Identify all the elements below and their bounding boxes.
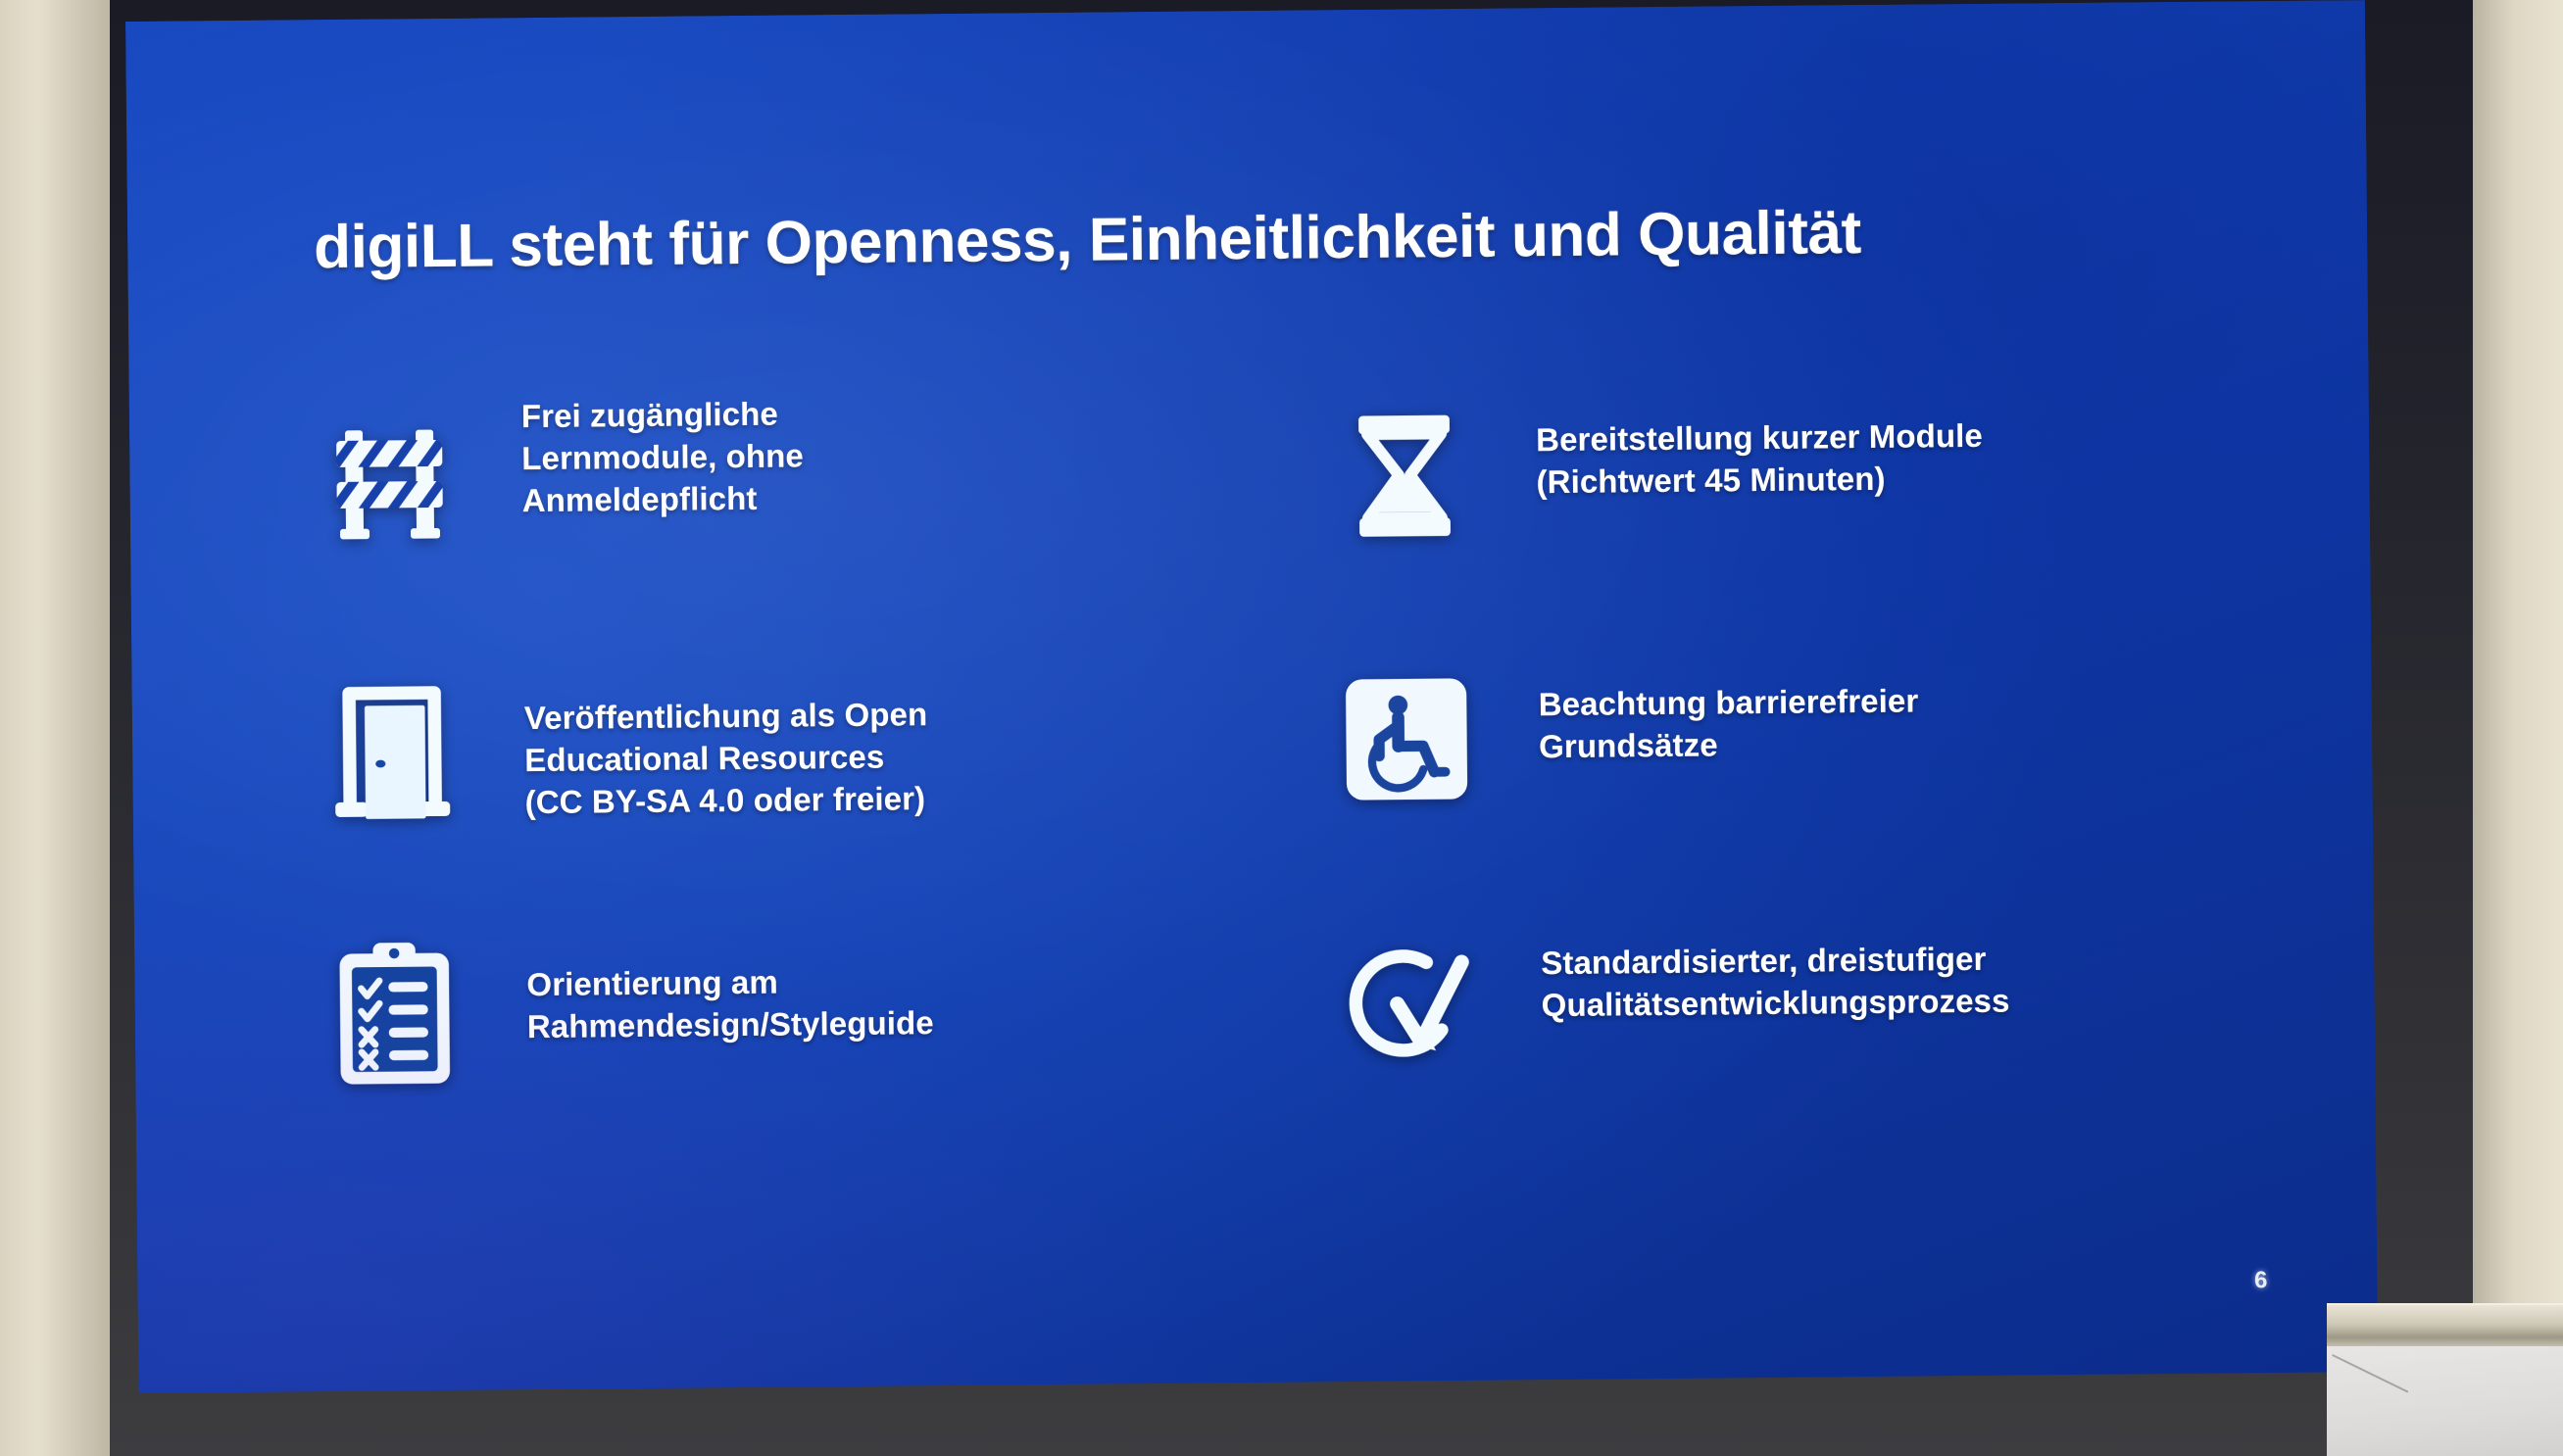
feature-item-short-modules: Bereitstellung kurzer Module (Richtwert … — [1291, 373, 2269, 648]
feature-line: Bereitstellung kurzer Module — [1536, 413, 2266, 461]
slide-background: digiLL steht für Openness, Einheitlichke… — [125, 0, 2378, 1393]
feature-text: Beachtung barrierefreier Grundsätze — [1538, 638, 2269, 768]
feature-line: Veröffentlichung als Open — [524, 691, 1255, 740]
feature-item-quality-process: Standardisierter, dreistufiger Qualitäts… — [1296, 902, 2273, 1157]
wall-right-strip — [2473, 0, 2563, 1456]
feature-text: Bereitstellung kurzer Module (Richtwert … — [1536, 373, 2267, 504]
feature-line: Standardisierter, dreistufiger — [1541, 936, 2271, 985]
projected-slide: digiLL steht für Openness, Einheitlichke… — [125, 0, 2379, 1413]
feature-text: Veröffentlichung als Open Educational Re… — [523, 648, 1256, 824]
feature-item-free-access: Frei zugängliche Lernmodule, ohne Anmeld… — [276, 383, 1255, 657]
feature-line: Beachtung barrierefreier — [1539, 677, 2269, 726]
clipboard-checklist-icon — [281, 919, 509, 1107]
feature-item-oer: Veröffentlichung als Open Educational Re… — [278, 648, 1257, 922]
feature-line: Lernmodule, ohne — [521, 431, 1252, 480]
feature-text: Standardisierter, dreistufiger Qualitäts… — [1541, 902, 2272, 1027]
slide-page-number: 6 — [2254, 1267, 2268, 1294]
feature-line: (CC BY-SA 4.0 oder freier) — [524, 775, 1255, 824]
feature-line: Rahmendesign/Styleguide — [527, 999, 1257, 1048]
feature-text: Frei zugängliche Lernmodule, ohne Anmeld… — [521, 383, 1253, 522]
wheelchair-accessibility-icon — [1293, 645, 1520, 833]
feature-line: Orientierung am — [526, 957, 1257, 1006]
slide-title: digiLL steht für Openness, Einheitlichke… — [314, 197, 2236, 279]
road-barrier-icon — [276, 390, 504, 578]
hourglass-icon — [1291, 380, 1518, 568]
flipchart-board — [2327, 1303, 2563, 1456]
open-door-icon — [278, 655, 506, 843]
feature-line: (Richtwert 45 Minuten) — [1536, 455, 2266, 504]
feature-line: Qualitätsentwicklungsprozess — [1542, 978, 2272, 1027]
feature-item-accessibility: Beachtung barrierefreier Grundsätze — [1293, 638, 2271, 912]
feature-line: Frei zugängliche — [521, 389, 1252, 438]
feature-line: Grundsätze — [1539, 719, 2269, 768]
room-photo: digiLL steht für Openness, Einheitlichke… — [0, 0, 2563, 1456]
flipchart-paper — [2327, 1346, 2563, 1456]
feature-text: Orientierung am Rahmendesign/Styleguide — [526, 912, 1257, 1048]
wall-left-strip — [0, 0, 110, 1456]
feature-grid: Frei zugängliche Lernmodule, ohne Anmeld… — [276, 373, 2273, 1166]
flipchart-rail — [2327, 1303, 2563, 1348]
feature-item-styleguide: Orientierung am Rahmendesign/Styleguide — [281, 912, 1258, 1167]
feature-line: Educational Resources — [524, 733, 1255, 782]
cycle-checkmark-icon — [1296, 909, 1523, 1097]
feature-line: Anmeldepflicht — [522, 473, 1253, 522]
